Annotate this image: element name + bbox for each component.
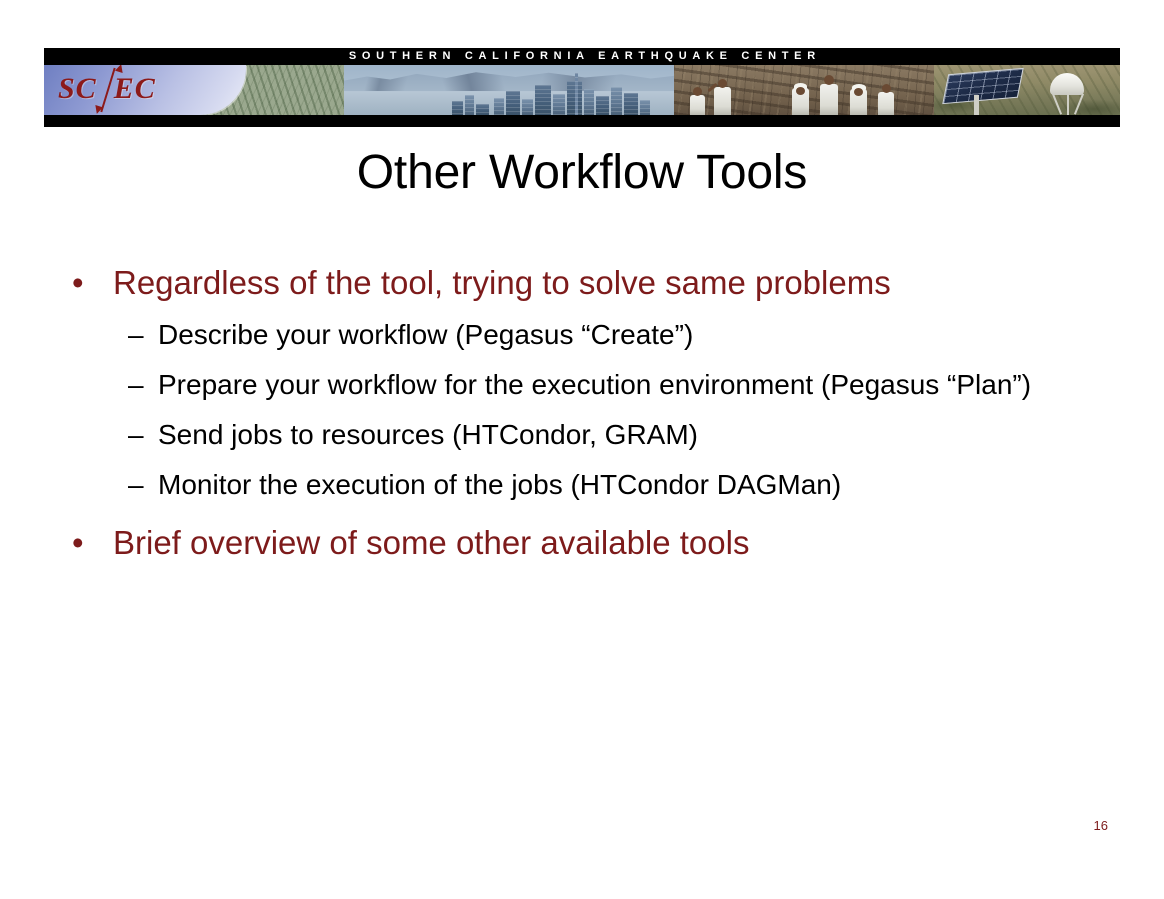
bullet-level1: • Brief overview of some other available… [60,522,1110,564]
bullet-level1: • Regardless of the tool, trying to solv… [60,262,1110,304]
sub-bullet-list: – Describe your workflow (Pegasus “Creat… [60,314,1110,506]
scec-logo-ec: EC [114,72,156,105]
presentation-slide: SOUTHERN CALIFORNIA EARTHQUAKE CENTER [0,0,1164,899]
bullet-level2-text: Monitor the execution of the jobs (HTCon… [158,469,841,500]
bullet-level2-text: Send jobs to resources (HTCondor, GRAM) [158,419,698,450]
scec-arrow-down-icon [93,105,103,115]
bullet-marker-icon: • [72,522,84,564]
bullet-marker-icon: • [72,262,84,304]
mountain-range-shape [344,65,674,91]
banner-caption-text: SOUTHERN CALIFORNIA EARTHQUAKE CENTER [44,48,1120,65]
bullet-level2: – Prepare your workflow for the executio… [60,364,1110,406]
dash-marker-icon: – [128,314,144,356]
solar-panel-post [974,95,979,115]
gps-dome-shape [1050,73,1084,95]
scec-logo: SCEC [44,65,246,115]
banner-bottom-bar [44,115,1120,127]
page-number: 16 [1094,818,1108,833]
dash-marker-icon: – [128,364,144,406]
bullet-level2: – Describe your workflow (Pegasus “Creat… [60,314,1110,356]
banner-gps-station-image [934,65,1120,115]
banner-field-researchers-image [674,65,934,115]
dash-marker-icon: – [128,464,144,506]
scec-logo-sc: SC [58,72,97,105]
bullet-level2-text: Prepare your workflow for the execution … [158,369,1031,400]
bullet-level2: – Send jobs to resources (HTCondor, GRAM… [60,414,1110,456]
bullet-level2-text: Describe your workflow (Pegasus “Create”… [158,319,693,350]
bullet-level2: – Monitor the execution of the jobs (HTC… [60,464,1110,506]
scec-header-banner: SOUTHERN CALIFORNIA EARTHQUAKE CENTER [44,48,1120,127]
solar-panel-shape [942,68,1024,104]
bullet-level1-text: Regardless of the tool, trying to solve … [113,264,891,301]
bullet-level1-text: Brief overview of some other available t… [113,524,749,561]
slide-body: • Regardless of the tool, trying to solv… [60,262,1110,574]
banner-skyline-image [344,65,674,115]
page-title: Other Workflow Tools [0,145,1164,200]
dash-marker-icon: – [128,414,144,456]
